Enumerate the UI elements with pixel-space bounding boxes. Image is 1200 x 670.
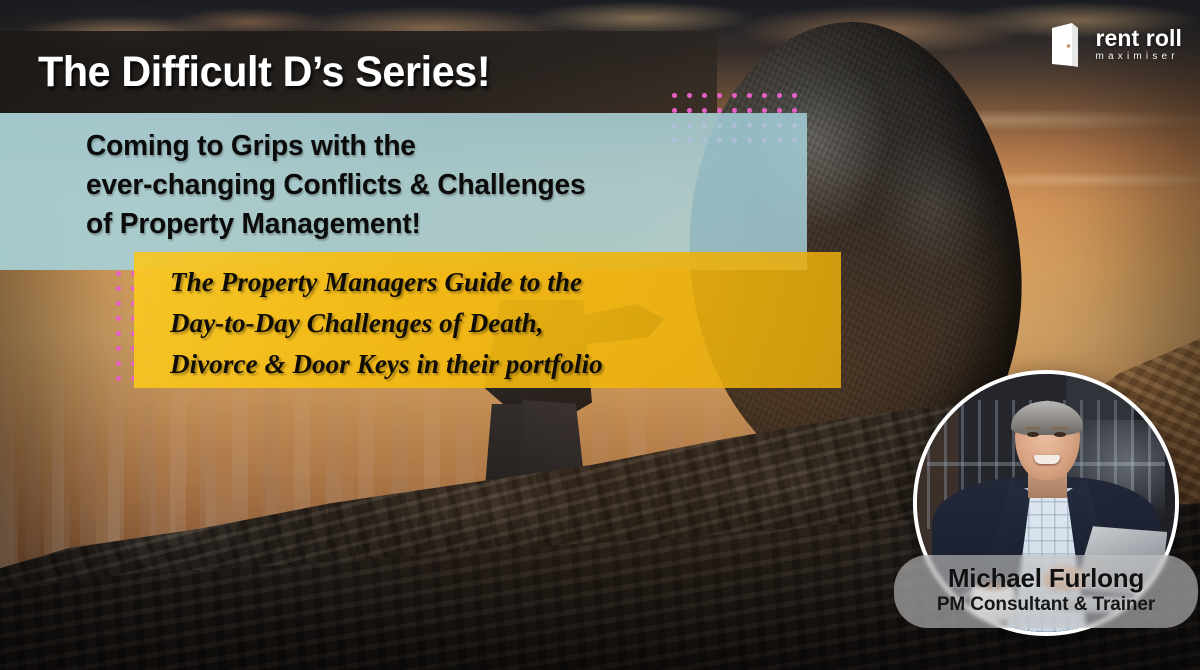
subheading-line-3: of Property Management!	[86, 205, 784, 244]
subheading-line-1: Coming to Grips with the	[86, 127, 784, 166]
door-icon	[1048, 21, 1082, 71]
brand-tagline: maximiser	[1095, 50, 1182, 64]
tagline-line-2: Day-to-Day Challenges of Death,	[170, 303, 850, 344]
tagline-line-3: Divorce & Door Keys in their portfolio	[170, 344, 850, 385]
brand-name: rent roll	[1095, 26, 1182, 50]
portrait-brow-left	[1025, 427, 1042, 431]
tagline: The Property Managers Guide to the Day-t…	[170, 262, 850, 385]
subheading: Coming to Grips with the ever-changing C…	[86, 127, 784, 244]
presenter-role: PM Consultant & Trainer	[908, 593, 1184, 617]
presenter-name: Michael Furlong	[908, 564, 1184, 593]
brand-logo[interactable]: rent roll maximiser	[1048, 18, 1182, 74]
portrait-brow-right	[1052, 427, 1069, 431]
portrait-smile	[1034, 455, 1060, 464]
promo-banner: The Difficult D’s Series! Coming to Grip…	[0, 0, 1200, 670]
presenter-nameplate: Michael Furlong PM Consultant & Trainer	[894, 555, 1198, 628]
brand-wordmark: rent roll maximiser	[1095, 26, 1182, 66]
presenter-block: Michael Furlong PM Consultant & Trainer	[913, 370, 1179, 636]
tagline-line-1: The Property Managers Guide to the	[170, 262, 850, 303]
subheading-line-2: ever-changing Conflicts & Challenges	[86, 166, 784, 205]
series-title: The Difficult D’s Series!	[38, 48, 490, 97]
